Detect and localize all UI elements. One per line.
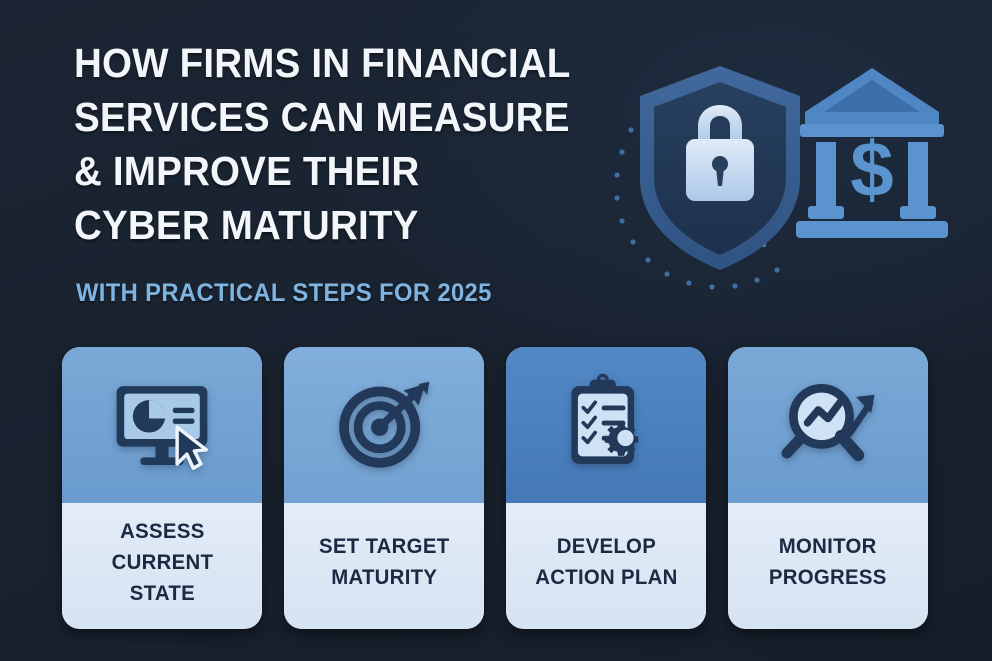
step-card-header — [62, 347, 262, 503]
step-card-label: MONITOR PROGRESS — [769, 531, 887, 593]
headline-block: HOW FIRMS IN FINANCIAL SERVICES CAN MEAS… — [74, 36, 634, 252]
headline-line-2: SERVICES CAN MEASURE — [74, 90, 600, 144]
hero-artwork: $ — [600, 38, 980, 310]
step-card-header — [506, 347, 706, 503]
step-card-develop-action-plan[interactable]: DEVELOP ACTION PLAN — [506, 347, 706, 629]
step-card-assess-current-state[interactable]: ASSESS CURRENT STATE — [62, 347, 262, 629]
step-card-label: ASSESS CURRENT STATE — [111, 516, 213, 609]
step-card-header — [284, 347, 484, 503]
step-card-body: MONITOR PROGRESS — [728, 503, 928, 629]
steps-row: ASSESS CURRENT STATE SET — [62, 347, 934, 629]
step-card-body: SET TARGET MATURITY — [284, 503, 484, 629]
dollar-symbol: $ — [850, 125, 893, 213]
bank-building-icon: $ — [796, 68, 948, 238]
step-card-header — [728, 347, 928, 503]
step-card-set-target-maturity[interactable]: SET TARGET MATURITY — [284, 347, 484, 629]
headline-line-1: HOW FIRMS IN FINANCIAL — [74, 36, 600, 90]
magnifier-trend-arrow-icon — [774, 371, 882, 479]
headline-line-4: CYBER MATURITY — [74, 198, 600, 252]
subheadline: WITH PRACTICAL STEPS FOR 2025 — [76, 279, 492, 308]
step-card-label: SET TARGET MATURITY — [319, 531, 449, 593]
infographic-poster: HOW FIRMS IN FINANCIAL SERVICES CAN MEAS… — [0, 0, 992, 661]
step-card-label: DEVELOP ACTION PLAN — [535, 531, 677, 593]
headline-line-3: & IMPROVE THEIR — [74, 144, 600, 198]
monitor-pie-chart-cursor-icon — [108, 371, 216, 479]
step-card-body: DEVELOP ACTION PLAN — [506, 503, 706, 629]
step-card-body: ASSESS CURRENT STATE — [62, 503, 262, 629]
clipboard-checklist-gear-icon — [552, 371, 660, 479]
step-card-monitor-progress[interactable]: MONITOR PROGRESS — [728, 347, 928, 629]
target-arrow-icon — [330, 371, 438, 479]
